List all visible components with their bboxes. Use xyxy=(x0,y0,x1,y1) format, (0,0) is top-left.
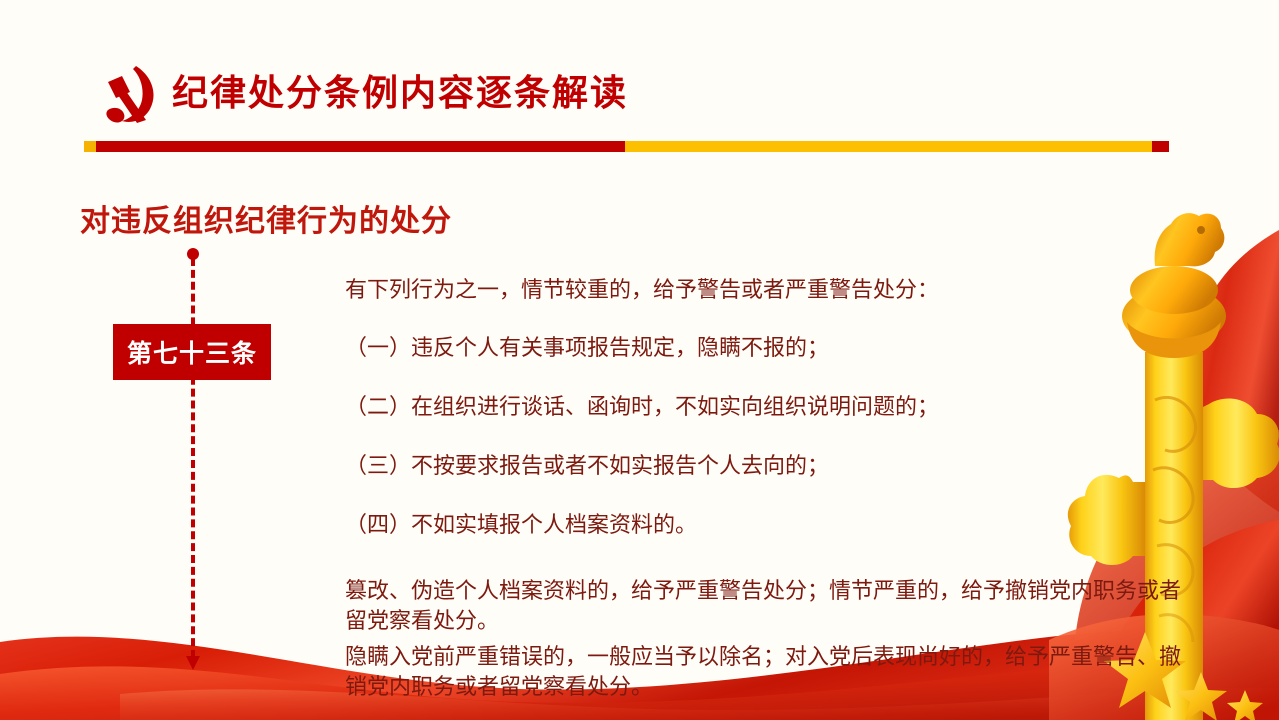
divider-segment-yellow xyxy=(625,141,1152,152)
closing-paragraph-2: 隐瞒入党前严重错误的，一般应当予以除名；对入党后表现尚好的，给予严重警告、撤销党… xyxy=(345,643,1185,703)
clause-item-4: （四）不如实填报个人档案资料的。 xyxy=(345,511,1180,541)
section-heading: 对违反组织纪律行为的处分 xyxy=(80,196,452,240)
article-number-badge: 第七十三条 xyxy=(113,324,271,380)
clause-item-3: （三）不按要求报告或者不如实报告个人去向的； xyxy=(345,452,1180,482)
clause-item-1: （一）违反个人有关事项报告规定，隐瞒不报的； xyxy=(345,334,1180,364)
timeline-arrow-icon xyxy=(186,656,200,670)
slide-canvas: 纪律处分条例内容逐条解读 对违反组织纪律行为的处分 第七十三条 有下列行为之一，… xyxy=(0,0,1279,720)
timeline-dashed-line xyxy=(191,258,195,658)
hammer-and-sickle-icon xyxy=(96,64,162,126)
article-body: 有下列行为之一，情节较重的，给予警告或者严重警告处分： （一）违反个人有关事项报… xyxy=(345,276,1180,703)
closing-paragraph-1: 篡改、伪造个人档案资料的，给予严重警告处分；情节严重的，给予撤销党内职务或者留党… xyxy=(345,577,1185,637)
timeline-connector xyxy=(186,248,200,678)
divider-segment-yellow-left xyxy=(84,141,96,152)
clause-lead: 有下列行为之一，情节较重的，给予警告或者严重警告处分： xyxy=(345,276,1180,306)
slide-header: 纪律处分条例内容逐条解读 xyxy=(0,0,1279,170)
page-title: 纪律处分条例内容逐条解读 xyxy=(172,68,628,120)
header-divider xyxy=(84,141,1169,152)
divider-segment-red-cap xyxy=(1152,141,1169,152)
divider-segment-red xyxy=(96,141,625,152)
clause-item-2: （二）在组织进行谈话、函询时，不如实向组织说明问题的； xyxy=(345,393,1180,423)
